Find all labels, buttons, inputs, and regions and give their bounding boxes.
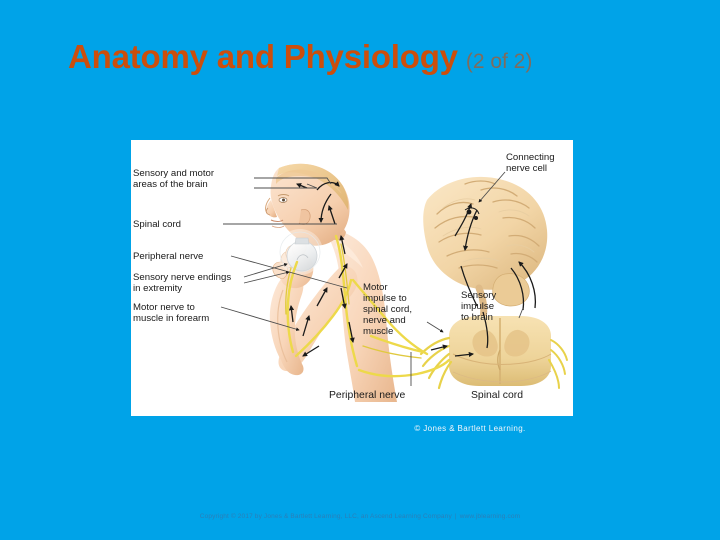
footer-url: www.jblearning.com (460, 513, 521, 520)
held-object (277, 229, 323, 275)
label-sensory-motor-areas-line2: areas of the brain (133, 179, 208, 190)
label-motor-impulse-line5: muscle (363, 326, 393, 337)
label-sensory-impulse-line1: Sensory (461, 290, 496, 301)
label-sensory-impulse-line2: impulse (461, 301, 494, 312)
label-connecting-nerve-cell-line1: Connecting (506, 152, 555, 163)
figure-credit: © Jones & Bartlett Learning. (340, 424, 600, 433)
label-spinal-cord-left: Spinal cord (133, 219, 181, 230)
label-motor-nerve-line2: muscle in forearm (133, 313, 209, 324)
anatomy-figure-panel: Sensory and motor areas of the brain Spi… (131, 140, 573, 416)
label-sensory-nerve-endings-line1: Sensory nerve endings (133, 272, 231, 283)
label-sensory-motor-areas-line1: Sensory and motor (133, 168, 215, 179)
reflex-arc-diagram: Sensory and motor areas of the brain Spi… (131, 140, 573, 416)
label-sensory-nerve-endings-line2: in extremity (133, 283, 182, 294)
label-motor-impulse-line4: nerve and (363, 315, 406, 326)
footer-separator: | (455, 513, 457, 520)
label-motor-impulse-line2: impulse to (363, 293, 407, 304)
label-peripheral-nerve-left: Peripheral nerve (133, 251, 203, 262)
footer-copyright-text: Copyright © 2017 by Jones & Bartlett Lea… (200, 513, 452, 520)
label-sensory-impulse-line3: to brain (461, 312, 493, 323)
label-peripheral-nerve-bottom: Peripheral nerve (329, 390, 405, 401)
label-connecting-nerve-cell-line2: nerve cell (506, 163, 547, 174)
footer-copyright: Copyright © 2017 by Jones & Bartlett Lea… (0, 513, 720, 520)
page-title-subtitle: (2 of 2) (466, 50, 533, 73)
label-motor-impulse-line1: Motor (363, 282, 388, 293)
page-title: Anatomy and Physiology(2 of 2) (68, 34, 668, 80)
label-motor-impulse-line3: spinal cord, (363, 304, 412, 315)
label-spinal-cord-bottom: Spinal cord (471, 390, 523, 401)
label-motor-nerve-line1: Motor nerve to (133, 302, 195, 313)
page-title-main: Anatomy and Physiology (68, 38, 458, 75)
